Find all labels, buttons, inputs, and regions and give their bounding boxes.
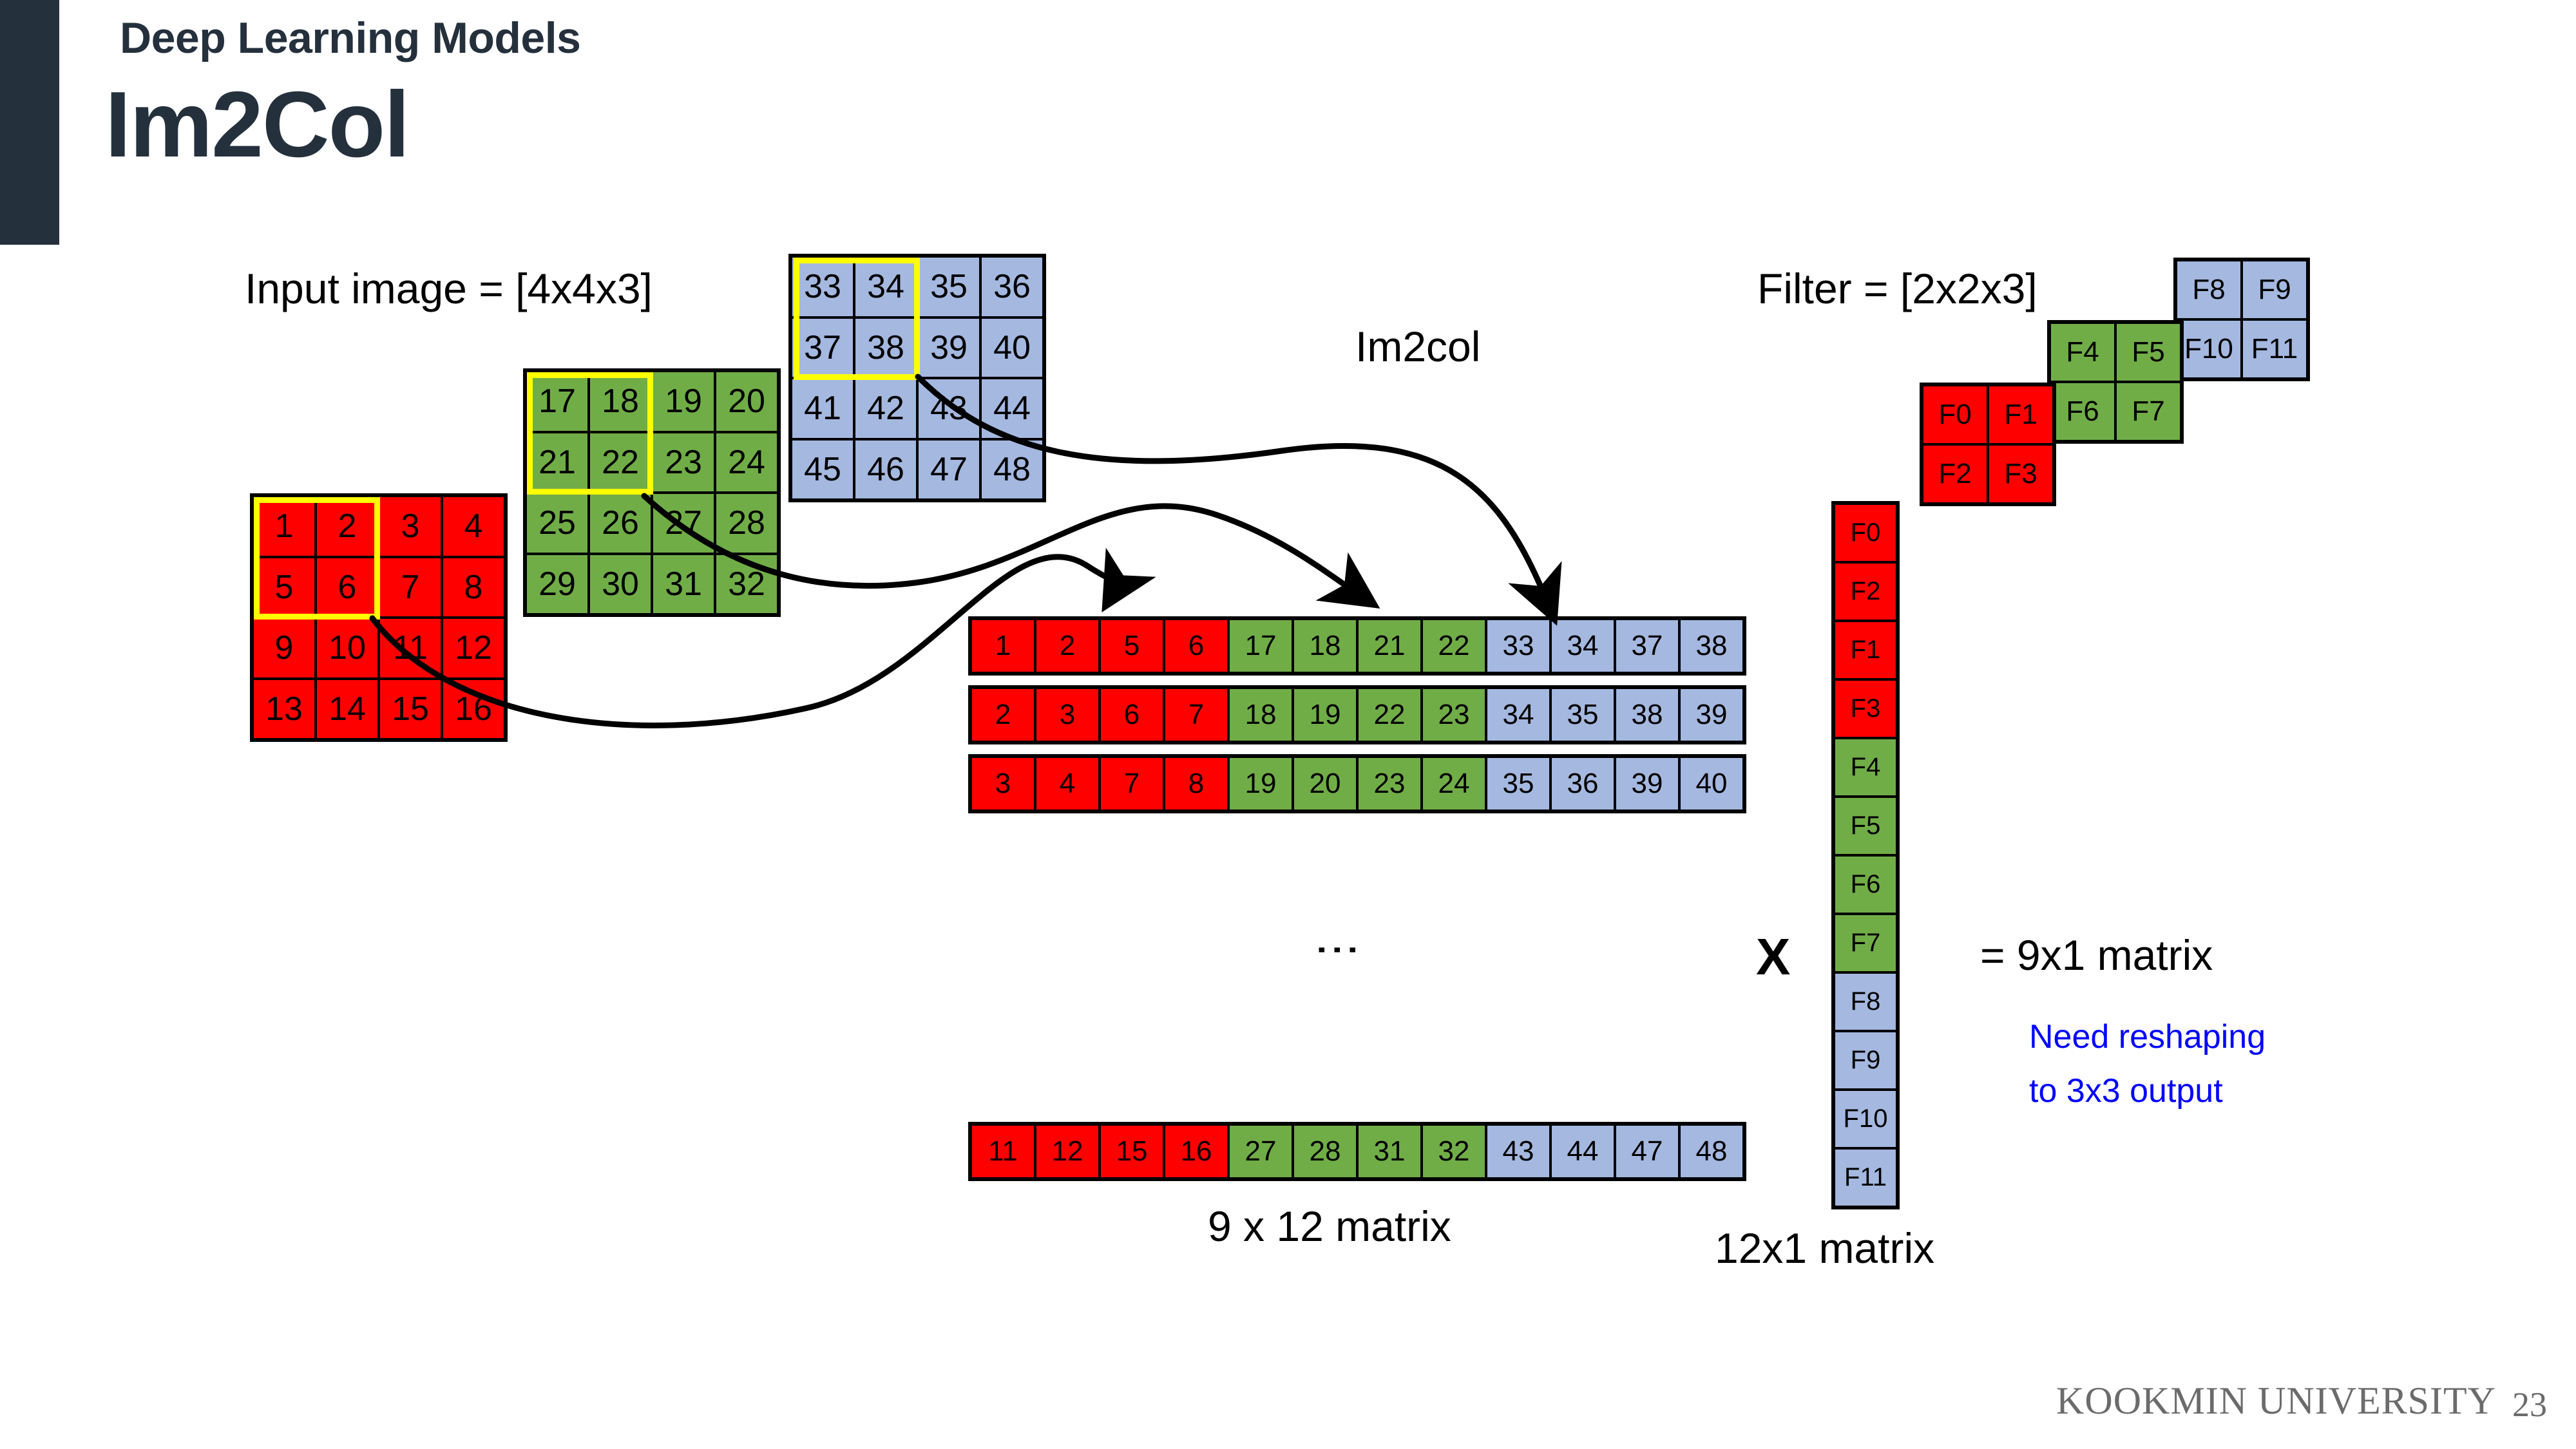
cell: 3 (379, 496, 442, 557)
cell: 23 (652, 432, 715, 493)
cell: 21 (526, 432, 589, 493)
cell: 33 (791, 256, 854, 317)
cell: F7 (2115, 382, 2181, 441)
matrix-9x12-label: 9 x 12 matrix (1208, 1202, 1451, 1251)
im2col-row: 3 4 7 8 19 20 23 24 35 36 39 40 (968, 754, 1746, 813)
cell: 28 (1293, 1124, 1357, 1179)
cell: 18 (1293, 619, 1357, 673)
cell: F9 (1834, 1031, 1897, 1090)
footer-brand: KOOKMIN UNIVERSITY (2056, 1379, 2496, 1423)
cell: F7 (1834, 914, 1897, 972)
cell: 31 (1357, 1124, 1422, 1179)
cell: 39 (917, 317, 980, 379)
cell: 17 (1228, 619, 1293, 673)
cell: 24 (715, 432, 778, 493)
cell: 5 (1100, 619, 1164, 673)
cell: 12 (442, 618, 505, 679)
cell: 47 (917, 439, 980, 500)
cell: 10 (316, 618, 379, 679)
cell: 11 (971, 1124, 1035, 1179)
cell: 19 (1293, 688, 1357, 742)
cell: 11 (379, 618, 442, 679)
im2col-label: Im2col (1355, 322, 1480, 371)
matrix-12x1-label: 12x1 matrix (1715, 1224, 1934, 1273)
cell: F4 (2050, 323, 2115, 382)
multiply-symbol: X (1756, 927, 1790, 987)
im2col-row: 1 2 5 6 17 18 21 22 33 34 37 38 (968, 616, 1746, 676)
cell: 37 (791, 317, 854, 379)
cell: 34 (854, 256, 917, 317)
slide-eyebrow: Deep Learning Models (120, 13, 580, 63)
cell: 8 (1164, 757, 1228, 811)
cell: 43 (1486, 1124, 1550, 1179)
cell: 24 (1422, 757, 1486, 811)
cell: 6 (1100, 688, 1164, 742)
cell: 35 (1486, 757, 1550, 811)
cell: 28 (715, 493, 778, 554)
cell: 38 (1679, 619, 1744, 673)
cell: 22 (1357, 688, 1422, 742)
filter-label: Filter = [2x2x3] (1757, 264, 2037, 313)
cell: 33 (1486, 619, 1550, 673)
cell: 1 (253, 496, 316, 557)
cell: F6 (2050, 382, 2115, 441)
cell: F1 (1988, 385, 2054, 444)
cell: 46 (854, 439, 917, 500)
cell: 1 (971, 619, 1035, 673)
filter-plane-blue: F8 F9 F10 F11 (2173, 258, 2310, 381)
cell: 4 (442, 496, 505, 557)
cell: 27 (652, 493, 715, 554)
cell: 41 (791, 378, 854, 439)
cell: 48 (1679, 1124, 1744, 1179)
cell: F1 (1834, 621, 1897, 679)
input-plane-green: 17 18 19 20 21 22 23 24 25 26 27 28 29 3… (523, 368, 781, 617)
cell: F11 (1834, 1148, 1897, 1207)
cell: 19 (1228, 757, 1293, 811)
cell: 2 (316, 496, 379, 557)
cell: 34 (1486, 688, 1550, 742)
cell: 34 (1550, 619, 1615, 673)
cell: 27 (1228, 1124, 1293, 1179)
cell: 44 (1550, 1124, 1615, 1179)
cell: 44 (980, 378, 1044, 439)
cell: 5 (253, 557, 316, 618)
cell: 6 (316, 557, 379, 618)
cell: 36 (980, 256, 1044, 317)
cell: 16 (442, 679, 505, 740)
cell: 15 (379, 679, 442, 740)
cell: 14 (316, 679, 379, 740)
cell: F10 (2176, 319, 2242, 379)
cell: 32 (1422, 1124, 1486, 1179)
cell: F8 (2176, 260, 2242, 319)
cell: 37 (1615, 619, 1679, 673)
cell: 18 (589, 371, 652, 432)
cell: 22 (589, 432, 652, 493)
cell: 13 (253, 679, 316, 740)
page-title: Im2Col (105, 71, 408, 178)
cell: 39 (1615, 757, 1679, 811)
cell: 32 (715, 554, 778, 615)
cell: 39 (1679, 688, 1744, 742)
cell: 4 (1035, 757, 1100, 811)
cell: 35 (917, 256, 980, 317)
cell: 23 (1357, 757, 1422, 811)
cell: 3 (971, 757, 1035, 811)
cell: 26 (589, 493, 652, 554)
input-plane-blue: 33 34 35 36 37 38 39 40 41 42 43 44 45 4… (788, 254, 1046, 502)
filter-plane-red: F0 F1 F2 F3 (1920, 383, 2056, 506)
cell: 48 (980, 439, 1044, 500)
cell: 45 (791, 439, 854, 500)
reshape-note-line1: Need reshaping (2029, 1016, 2266, 1058)
cell: 2 (1035, 619, 1100, 673)
cell: 18 (1228, 688, 1293, 742)
cell: 19 (652, 371, 715, 432)
im2col-row: 2 3 6 7 18 19 22 23 34 35 38 39 (968, 685, 1746, 744)
cell: F0 (1922, 385, 1988, 444)
cell: F5 (2115, 323, 2181, 382)
cell: F3 (1988, 444, 2054, 504)
filter-column-vector: F0 F2 F1 F3 F4 F5 F6 F7 F8 F9 F10 F11 (1831, 501, 1900, 1209)
cell: F8 (1834, 972, 1897, 1031)
cell: F2 (1922, 444, 1988, 504)
cell: 6 (1164, 619, 1228, 673)
cell: 16 (1164, 1124, 1228, 1179)
cell: 7 (1100, 757, 1164, 811)
cell: 2 (971, 688, 1035, 742)
cell: F2 (1834, 562, 1897, 621)
title-accent-bar (0, 0, 59, 245)
cell: 20 (715, 371, 778, 432)
cell: 40 (980, 317, 1044, 379)
cell: 40 (1679, 757, 1744, 811)
input-image-label: Input image = [4x4x3] (245, 264, 653, 313)
cell: 31 (652, 554, 715, 615)
cell: 20 (1293, 757, 1357, 811)
cell: 25 (526, 493, 589, 554)
cell: 38 (1615, 688, 1679, 742)
slide-canvas: Deep Learning Models Im2Col Input image … (0, 0, 2576, 1449)
cell: 38 (854, 317, 917, 379)
cell: 9 (253, 618, 316, 679)
input-plane-red: 1 2 3 4 5 6 7 8 9 10 11 12 13 14 15 16 (250, 493, 508, 742)
cell: 21 (1357, 619, 1422, 673)
cell: 36 (1550, 757, 1615, 811)
cell: 47 (1615, 1124, 1679, 1179)
cell: 42 (854, 378, 917, 439)
cell: 3 (1035, 688, 1100, 742)
cell: 29 (526, 554, 589, 615)
cell: 17 (526, 371, 589, 432)
cell: 23 (1422, 688, 1486, 742)
cell: F5 (1834, 797, 1897, 855)
cell: 8 (442, 557, 505, 618)
cell: F3 (1834, 679, 1897, 738)
cell: 12 (1035, 1124, 1100, 1179)
cell: 35 (1550, 688, 1615, 742)
cell: 7 (379, 557, 442, 618)
footer-page-number: 23 (2512, 1385, 2547, 1425)
cell: F9 (2242, 260, 2307, 319)
cell: F6 (1834, 855, 1897, 914)
cell: 15 (1100, 1124, 1164, 1179)
filter-plane-green: F4 F5 F6 F7 (2047, 320, 2184, 444)
cell: F10 (1834, 1090, 1897, 1148)
cell: 30 (589, 554, 652, 615)
result-label: = 9x1 matrix (1980, 931, 2213, 980)
vertical-ellipsis: ⋮ (1330, 927, 1346, 972)
im2col-row: 11 12 15 16 27 28 31 32 43 44 47 48 (968, 1122, 1746, 1181)
reshape-note-line2: to 3x3 output (2029, 1070, 2223, 1112)
cell: 7 (1164, 688, 1228, 742)
cell: F11 (2242, 319, 2307, 379)
cell: F0 (1834, 504, 1897, 562)
cell: F4 (1834, 738, 1897, 797)
cell: 22 (1422, 619, 1486, 673)
cell: 43 (917, 378, 980, 439)
